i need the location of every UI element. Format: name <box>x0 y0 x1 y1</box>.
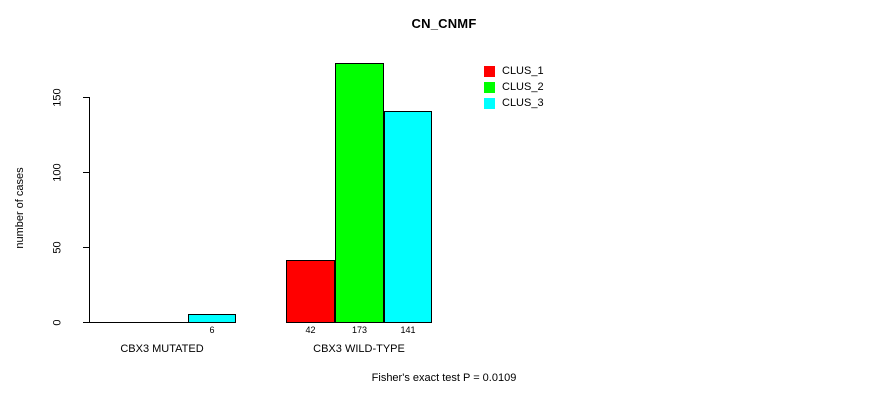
bar-value-label-cbx3-mutated-clus_3: 6 <box>188 325 236 335</box>
legend-item-clus_3[interactable]: CLUS_3 <box>484 95 544 111</box>
bar-cbx3-wild-type-clus_1[interactable] <box>286 260 335 323</box>
bar-value-label-cbx3-wild-type-clus_3: 141 <box>384 325 432 335</box>
bar-value-label-cbx3-wild-type-clus_1: 42 <box>286 325 335 335</box>
bar-cbx3-mutated-clus_3[interactable] <box>188 314 236 323</box>
legend-item-clus_1[interactable]: CLUS_1 <box>484 63 544 79</box>
legend-label-clus_2: CLUS_2 <box>502 82 544 93</box>
statistical-test-annotation: Fisher's exact test P = 0.0109 <box>0 372 889 384</box>
bar-cbx3-mutated-clus_1[interactable] <box>90 322 139 323</box>
bar-cbx3-mutated-clus_2[interactable] <box>139 322 188 323</box>
legend-item-clus_2[interactable]: CLUS_2 <box>484 79 544 95</box>
legend-label-clus_1: CLUS_1 <box>502 66 544 77</box>
x-group-label-cbx3-wild-type: CBX3 WILD-TYPE <box>279 343 439 355</box>
legend: CLUS_1 CLUS_2 CLUS_3 <box>484 63 544 111</box>
bar-value-label-cbx3-wild-type-clus_2: 173 <box>335 325 384 335</box>
bars-layer <box>0 0 890 323</box>
legend-label-clus_3: CLUS_3 <box>502 98 544 109</box>
chart-canvas: CN_CNMF 0 50 100 150 number of cases 6 4… <box>0 0 890 400</box>
bar-cbx3-wild-type-clus_2[interactable] <box>335 63 384 323</box>
x-group-label-cbx3-mutated: CBX3 MUTATED <box>82 343 242 355</box>
legend-swatch-icon-clus_3 <box>484 98 495 109</box>
legend-swatch-icon-clus_2 <box>484 82 495 93</box>
legend-swatch-icon-clus_1 <box>484 66 495 77</box>
bar-cbx3-wild-type-clus_3[interactable] <box>384 111 432 323</box>
